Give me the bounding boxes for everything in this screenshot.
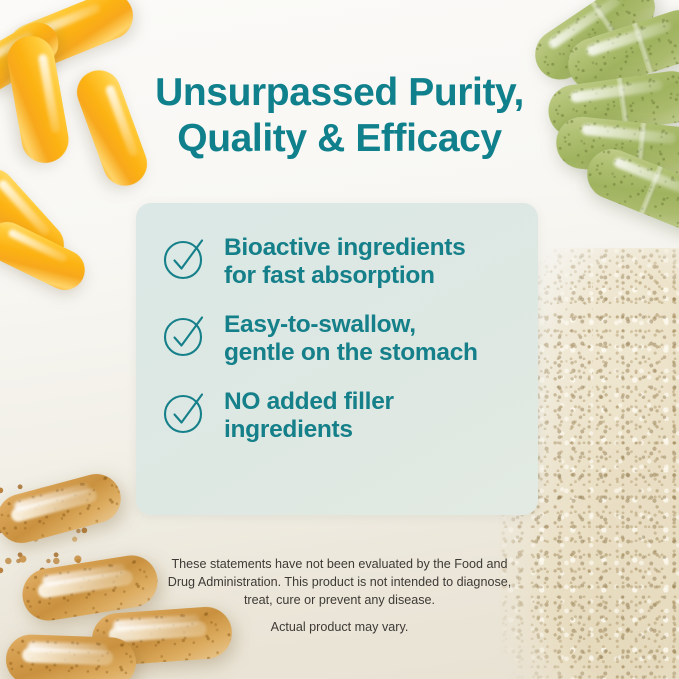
fda-disclaimer-line-3: treat, cure or prevent any disease. [140, 592, 539, 610]
softgel-capsule-top-left-6 [0, 215, 92, 297]
check-circle-icon [162, 389, 208, 435]
benefit-item-2: Easy-to-swallow, gentle on the stomach [162, 310, 514, 368]
fda-disclaimer: These statements have not been evaluated… [0, 556, 679, 610]
check-circle-icon [162, 312, 208, 358]
softgel-capsule-top-left-5 [0, 160, 73, 275]
page-title-line-1: Unsurpassed Purity, [120, 70, 559, 116]
turmeric-capsule-3 [90, 605, 233, 667]
turmeric-capsule-1 [0, 469, 126, 549]
benefit-item-1-line-1: Bioactive ingredients [224, 234, 466, 262]
benefits-card: Bioactive ingredients for fast absorptio… [136, 203, 538, 515]
benefit-item-3-line-1: NO added filler [224, 388, 394, 416]
benefit-item-2-text: Easy-to-swallow, gentle on the stomach [224, 310, 478, 368]
benefit-item-2-line-2: gentle on the stomach [224, 339, 478, 367]
product-variance-note: Actual product may vary. [0, 620, 679, 634]
benefit-item-3: NO added filler ingredients [162, 387, 514, 445]
softgel-capsule-top-left-1 [2, 0, 140, 78]
benefit-item-3-text: NO added filler ingredients [224, 387, 394, 445]
benefit-item-1: Bioactive ingredients for fast absorptio… [162, 233, 514, 291]
benefit-item-1-line-2: for fast absorption [224, 262, 466, 290]
check-circle-icon [162, 235, 208, 281]
benefit-item-3-line-2: ingredients [224, 416, 394, 444]
product-benefits-panel: Unsurpassed Purity, Quality & Efficacy B… [0, 0, 679, 679]
fda-disclaimer-line-2: Drug Administration. This product is not… [140, 574, 539, 592]
benefit-item-2-line-1: Easy-to-swallow, [224, 311, 478, 339]
page-title-line-2: Quality & Efficacy [120, 116, 559, 162]
page-title: Unsurpassed Purity, Quality & Efficacy [0, 70, 679, 162]
benefit-item-1-text: Bioactive ingredients for fast absorptio… [224, 233, 466, 291]
fda-disclaimer-line-1: These statements have not been evaluated… [140, 556, 539, 574]
turmeric-capsule-4 [5, 634, 137, 679]
